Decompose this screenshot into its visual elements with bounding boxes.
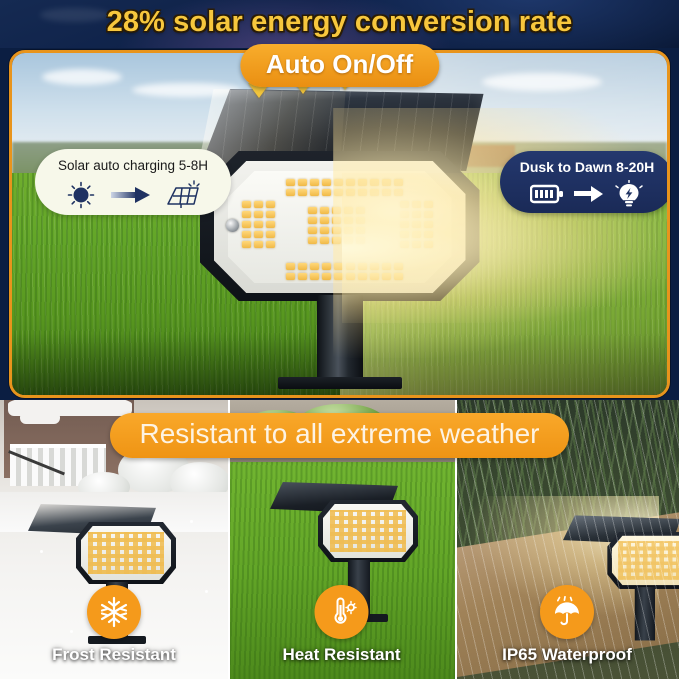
feature-label-frost: Frost Resistant <box>0 645 228 665</box>
weather-ribbon: Resistant to all extreme weather <box>110 413 570 458</box>
ground-stake-base <box>278 377 402 389</box>
led-array-right <box>400 201 433 248</box>
led-array-top <box>286 179 403 196</box>
lightbulb-icon <box>614 180 644 208</box>
auto-on-off-pill: Auto On/Off <box>240 44 439 87</box>
thermometer-sun-icon-wrapper <box>315 585 369 639</box>
feature-label-waterproof: IP65 Waterproof <box>455 645 679 665</box>
solar-charging-label: Solar auto charging 5-8H <box>35 158 231 173</box>
sun-icon <box>64 180 98 210</box>
led-array-center <box>308 207 365 244</box>
feature-badge-frost: Frost Resistant <box>0 585 228 665</box>
snowflake-icon <box>98 596 130 628</box>
led-array <box>330 510 406 552</box>
arrow-right-icon <box>574 186 604 202</box>
led-array-bottom <box>286 263 403 280</box>
dusk-to-dawn-label: Dusk to Dawn 8-20H <box>500 159 670 175</box>
light-sensor-icon <box>226 219 239 232</box>
dusk-to-dawn-badge: Dusk to Dawn 8-20H <box>500 151 670 213</box>
arrow-right-icon <box>111 186 151 204</box>
led-array-left <box>242 201 275 248</box>
solar-spotlight-product <box>190 89 490 389</box>
page-title: 28% solar energy conversion rate <box>0 6 679 39</box>
solar-panel-icon <box>164 180 202 210</box>
product-infographic: 28% solar energy conversion rate <box>0 0 679 679</box>
hero-scene: Solar auto charging 5-8H <box>9 50 670 398</box>
thermometer-sun-icon <box>326 596 358 628</box>
snowflake-icon-wrapper <box>87 585 141 639</box>
umbrella-rain-icon-wrapper <box>540 585 594 639</box>
battery-full-icon <box>530 183 564 205</box>
solar-charging-badge: Solar auto charging 5-8H <box>35 149 231 215</box>
ground-stake-pole <box>317 295 363 387</box>
cloud <box>42 69 122 85</box>
feature-label-heat: Heat Resistant <box>228 645 455 665</box>
feature-badge-waterproof: IP65 Waterproof <box>455 585 679 665</box>
umbrella-rain-icon <box>551 596 583 628</box>
led-array <box>88 532 164 574</box>
window-snow <box>20 412 60 424</box>
feature-badge-heat: Heat Resistant <box>228 585 455 665</box>
